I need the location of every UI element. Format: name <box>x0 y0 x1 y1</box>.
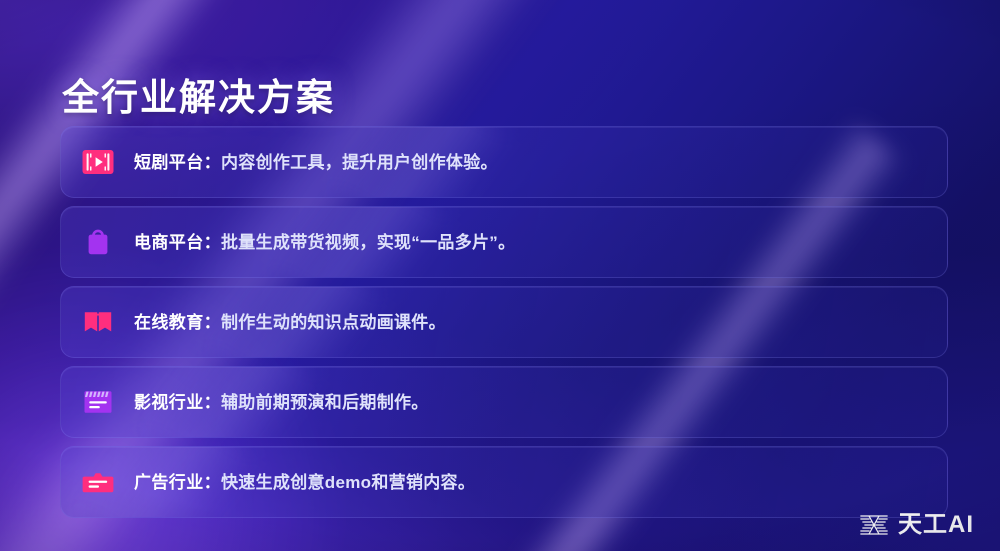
list-item-text: 在线教育：制作生动的知识点动画课件。 <box>134 314 446 331</box>
solution-card-list: 短剧平台：内容创作工具，提升用户创作体验。 电商平台：批量生成带货视频，实现“一… <box>60 126 948 526</box>
billboard-icon <box>81 465 115 499</box>
list-item-description: 快速生成创意demo和营销内容。 <box>221 473 475 492</box>
list-item-text: 影视行业：辅助前期预演和后期制作。 <box>134 394 429 411</box>
list-item-label: 影视行业： <box>134 393 221 412</box>
brand-logo: 天工AI <box>859 513 974 537</box>
list-item[interactable]: 短剧平台：内容创作工具，提升用户创作体验。 <box>60 126 948 198</box>
list-item[interactable]: 在线教育：制作生动的知识点动画课件。 <box>60 286 948 358</box>
page-title: 全行业解决方案 <box>62 67 335 121</box>
list-item-description: 制作生动的知识点动画课件。 <box>221 313 446 332</box>
list-item-text: 短剧平台：内容创作工具，提升用户创作体验。 <box>134 154 498 171</box>
list-item[interactable]: 电商平台：批量生成带货视频，实现“一品多片”。 <box>60 206 948 278</box>
list-item-label: 在线教育： <box>134 313 221 332</box>
list-item-label: 广告行业： <box>134 473 221 492</box>
list-item[interactable]: 影视行业：辅助前期预演和后期制作。 <box>60 366 948 438</box>
list-item-description: 辅助前期预演和后期制作。 <box>221 393 429 412</box>
light-beam-decoration <box>0 0 24 551</box>
list-item[interactable]: 广告行业：快速生成创意demo和营销内容。 <box>60 446 948 518</box>
shopping-bag-icon <box>81 225 115 259</box>
list-item-text: 电商平台：批量生成带货视频，实现“一品多片”。 <box>134 234 515 251</box>
slide-canvas: 全行业解决方案 短剧平台：内容创 <box>0 0 1000 551</box>
list-item-text: 广告行业：快速生成创意demo和营销内容。 <box>134 474 475 491</box>
film-play-icon <box>81 145 115 179</box>
tiangong-logo-icon <box>859 513 889 537</box>
brand-name: 天工AI <box>898 513 974 537</box>
list-item-label: 电商平台： <box>134 233 221 252</box>
open-book-icon <box>81 305 115 339</box>
list-item-description: 内容创作工具，提升用户创作体验。 <box>221 153 498 172</box>
list-item-label: 短剧平台： <box>134 153 221 172</box>
list-item-description: 批量生成带货视频，实现“一品多片”。 <box>221 233 515 252</box>
clapperboard-icon <box>81 385 115 419</box>
